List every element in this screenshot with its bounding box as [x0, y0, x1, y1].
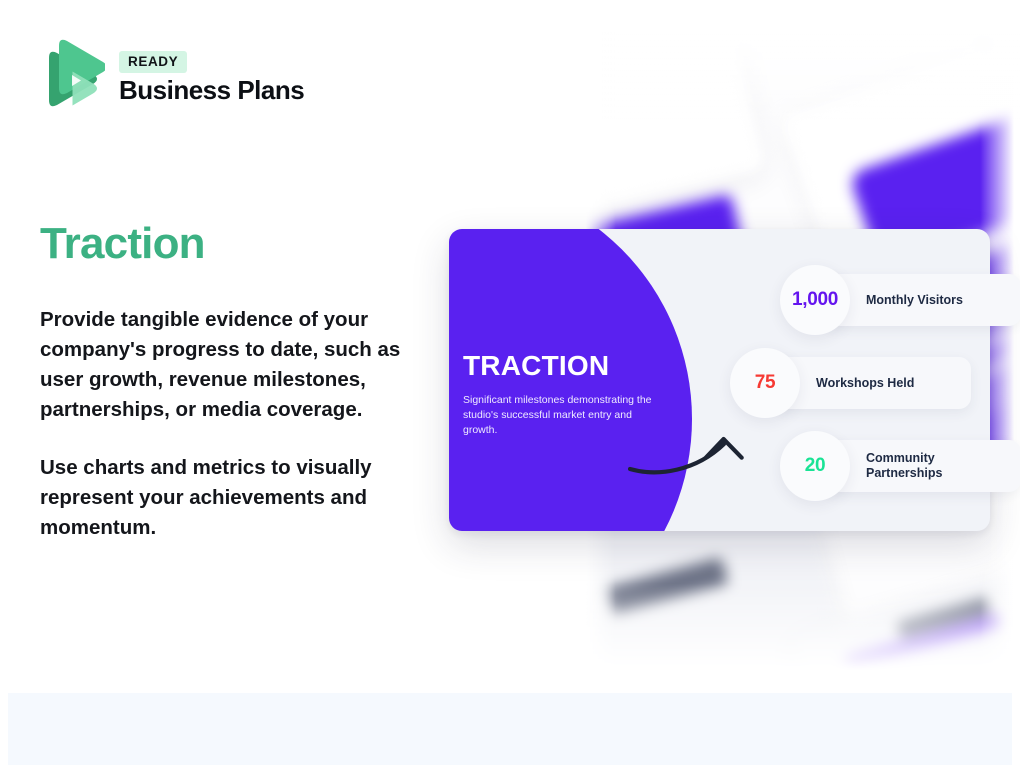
- bottom-strip: [8, 693, 1012, 765]
- slide-title: TRACTION: [463, 350, 609, 382]
- collage-fade-top: [582, 0, 1020, 120]
- metric-pill: Community Partnerships: [823, 440, 1020, 492]
- metric-pill: Monthly Visitors: [823, 274, 1020, 326]
- slide-preview-page: READY Business Plans Traction Provide ta…: [0, 0, 1020, 765]
- brand-wordmark: READY Business Plans: [119, 51, 304, 106]
- metric-pill: Workshops Held: [773, 357, 971, 409]
- brand-logo[interactable]: READY Business Plans: [41, 38, 304, 118]
- description-paragraph-1: Provide tangible evidence of your compan…: [40, 305, 432, 425]
- metric-bubble: 1,000: [780, 265, 850, 335]
- description-paragraph-2: Use charts and metrics to visually repre…: [40, 453, 432, 543]
- metric-value: 1,000: [792, 289, 838, 311]
- brand-name: Business Plans: [119, 75, 304, 106]
- slide-subtitle: Significant milestones demonstrating the…: [463, 393, 653, 437]
- collage-fade-bottom: [582, 583, 1020, 693]
- metric-bubble: 20: [780, 431, 850, 501]
- metric-value: 75: [755, 372, 776, 394]
- ready-badge: READY: [119, 51, 187, 73]
- description-block: Provide tangible evidence of your compan…: [40, 305, 432, 543]
- metric-bubble: 75: [730, 348, 800, 418]
- curved-arrow-up-right-icon: [628, 425, 748, 485]
- page-title: Traction: [40, 219, 205, 269]
- metric-value: 20: [805, 455, 826, 477]
- play-triangle-logo-icon: [41, 38, 105, 118]
